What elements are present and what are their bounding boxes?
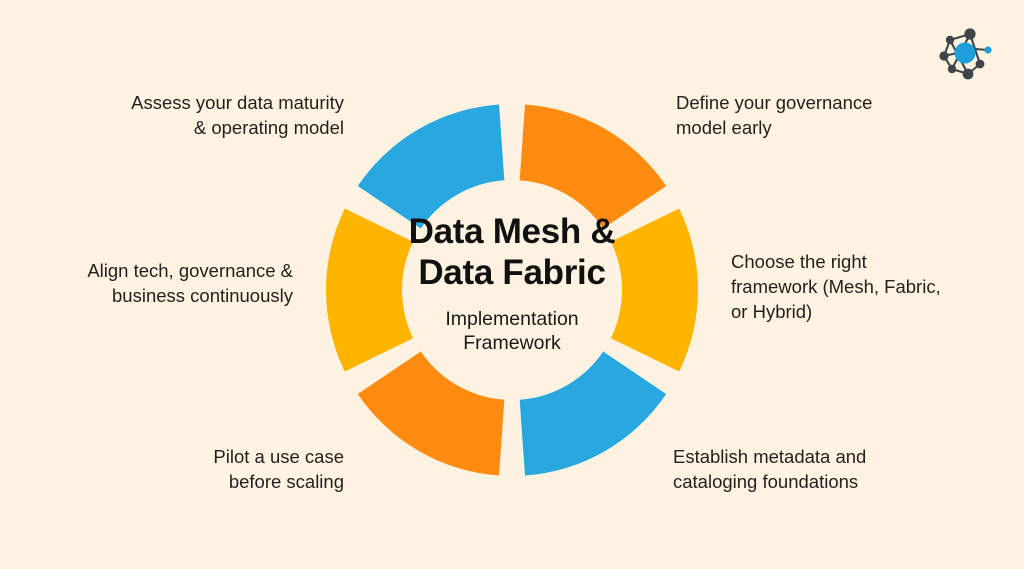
label-define-governance: Define your governance model early bbox=[676, 91, 976, 141]
infographic-canvas: Data Mesh & Data Fabric Implementation F… bbox=[0, 0, 1024, 569]
segment-define-governance bbox=[520, 104, 667, 228]
segment-establish-metadata bbox=[520, 352, 667, 476]
segment-align-tech bbox=[326, 208, 413, 371]
segment-choose-framework bbox=[611, 208, 698, 371]
segment-assess-maturity bbox=[358, 104, 505, 228]
label-choose-framework: Choose the right framework (Mesh, Fabric… bbox=[731, 250, 996, 325]
segment-pilot-use-case bbox=[358, 352, 505, 476]
label-pilot-use-case: Pilot a use case before scaling bbox=[84, 445, 344, 495]
label-establish-metadata: Establish metadata and cataloging founda… bbox=[673, 445, 973, 495]
label-assess-maturity: Assess your data maturity & operating mo… bbox=[44, 91, 344, 141]
label-align-tech: Align tech, governance & business contin… bbox=[48, 259, 293, 309]
